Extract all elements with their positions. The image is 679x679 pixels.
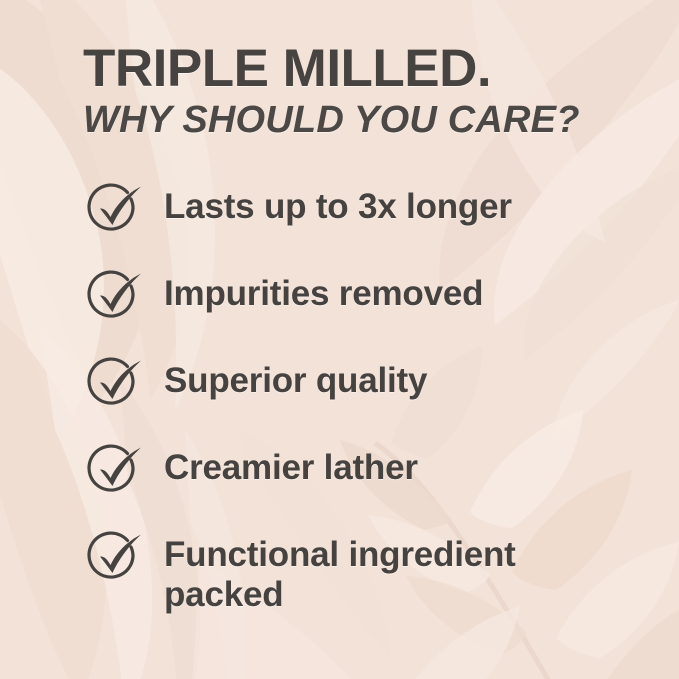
benefit-label: Functional ingredient packed <box>164 530 594 616</box>
benefit-label: Impurities removed <box>164 269 483 315</box>
check-circle-icon <box>83 444 145 500</box>
list-item: Functional ingredient packed <box>83 530 679 617</box>
triple-milled-benefits-poster: TRIPLE MILLED. WHY SHOULD YOU CARE? Last… <box>0 0 679 679</box>
check-circle-icon <box>83 531 145 587</box>
benefit-label: Lasts up to 3x longer <box>164 182 512 228</box>
check-circle-icon <box>83 183 145 239</box>
check-circle-icon <box>83 357 145 413</box>
list-item: Superior quality <box>83 356 679 443</box>
list-item: Impurities removed <box>83 269 679 356</box>
benefit-label: Creamier lather <box>164 443 418 489</box>
benefits-list: Lasts up to 3x longer Impurities removed… <box>83 182 679 617</box>
page-subtitle: WHY SHOULD YOU CARE? <box>83 99 679 142</box>
check-circle-icon <box>83 270 145 326</box>
page-title: TRIPLE MILLED. <box>83 41 679 97</box>
benefit-label: Superior quality <box>164 356 427 402</box>
poster-content: TRIPLE MILLED. WHY SHOULD YOU CARE? Last… <box>0 0 679 679</box>
list-item: Lasts up to 3x longer <box>83 182 679 269</box>
list-item: Creamier lather <box>83 443 679 530</box>
